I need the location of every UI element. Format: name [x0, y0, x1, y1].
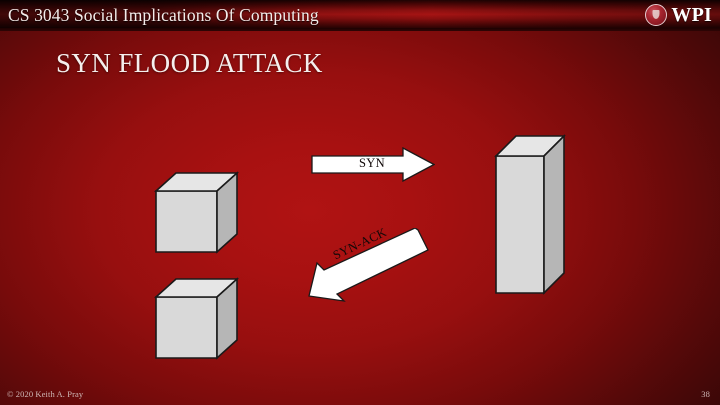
server-box	[495, 135, 565, 295]
page-title: SYN FLOOD ATTACK	[56, 46, 323, 80]
header-bottom-edge	[0, 28, 720, 31]
wpi-seal-icon	[645, 4, 667, 26]
presentation-slide: CS 3043 Social Implications Of Computing…	[0, 0, 720, 405]
wpi-wordmark: WPI	[671, 5, 712, 25]
client-cube-2	[155, 278, 239, 360]
slide-page-number: 38	[701, 389, 710, 400]
course-title: CS 3043 Social Implications Of Computing	[8, 2, 319, 28]
client-cube-1	[155, 172, 239, 254]
syn-ack-arrow	[305, 228, 430, 308]
footer-copyright: © 2020 Keith A. Pray	[7, 389, 83, 400]
syn-arrow	[311, 147, 435, 187]
wpi-logo: WPI	[645, 2, 712, 28]
